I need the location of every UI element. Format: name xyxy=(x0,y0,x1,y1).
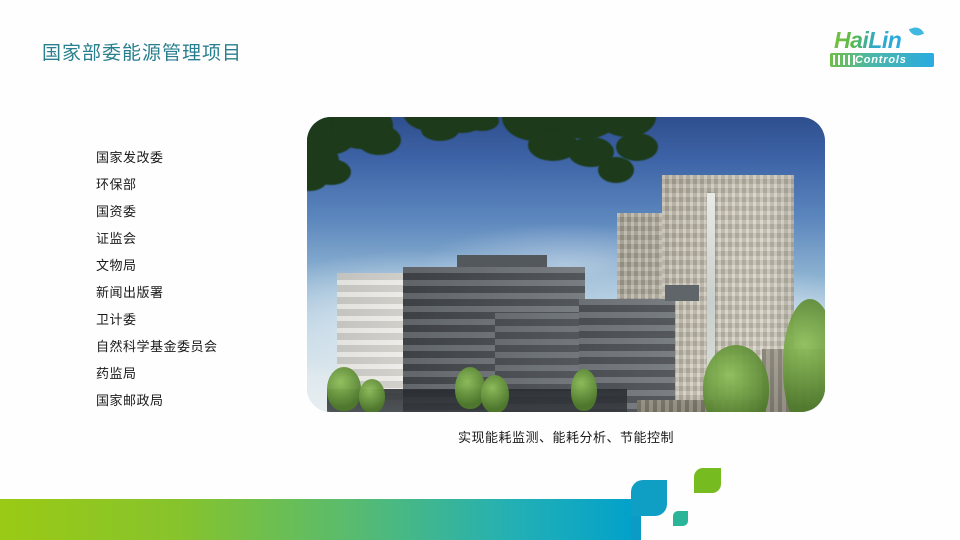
list-item: 文物局 xyxy=(96,252,286,279)
list-item: 证监会 xyxy=(96,225,286,252)
list-item: 新闻出版署 xyxy=(96,279,286,306)
list-item: 卫计委 xyxy=(96,306,286,333)
list-item: 国资委 xyxy=(96,198,286,225)
street-tree xyxy=(359,379,385,412)
list-item: 自然科学基金委员会 xyxy=(96,333,286,360)
list-item: 国家发改委 xyxy=(96,144,286,171)
photo-caption: 实现能耗监测、能耗分析、节能控制 xyxy=(307,427,825,446)
page-title: 国家部委能源管理项目 xyxy=(42,38,242,65)
footer-teal-square xyxy=(673,511,688,526)
list-item: 药监局 xyxy=(96,360,286,387)
building-rooftop-box xyxy=(665,285,699,301)
leaf-icon xyxy=(909,25,924,38)
street-tree xyxy=(327,367,361,411)
hailin-controls-logo: HaiLin Controls xyxy=(826,28,938,70)
list-item: 环保部 xyxy=(96,171,286,198)
footer-gradient-bar xyxy=(0,499,641,540)
stripes-icon xyxy=(833,55,855,65)
building-photo xyxy=(307,117,825,412)
street-tree xyxy=(571,369,597,411)
list-item: 国家邮政局 xyxy=(96,387,286,414)
footer-blue-square xyxy=(631,480,667,516)
street-tree xyxy=(481,375,509,412)
ministry-list: 国家发改委 环保部 国资委 证监会 文物局 新闻出版署 卫计委 自然科学基金委员… xyxy=(96,144,286,414)
logo-wordmark: HaiLin xyxy=(834,28,901,52)
presentation-slide: 国家部委能源管理项目 HaiLin Controls 国家发改委 环保部 国资委… xyxy=(0,0,960,540)
logo-subtext: Controls xyxy=(855,54,907,66)
footer-green-square xyxy=(694,468,721,493)
tree-canopy-right xyxy=(502,117,662,215)
tree-canopy-mid xyxy=(403,117,513,171)
